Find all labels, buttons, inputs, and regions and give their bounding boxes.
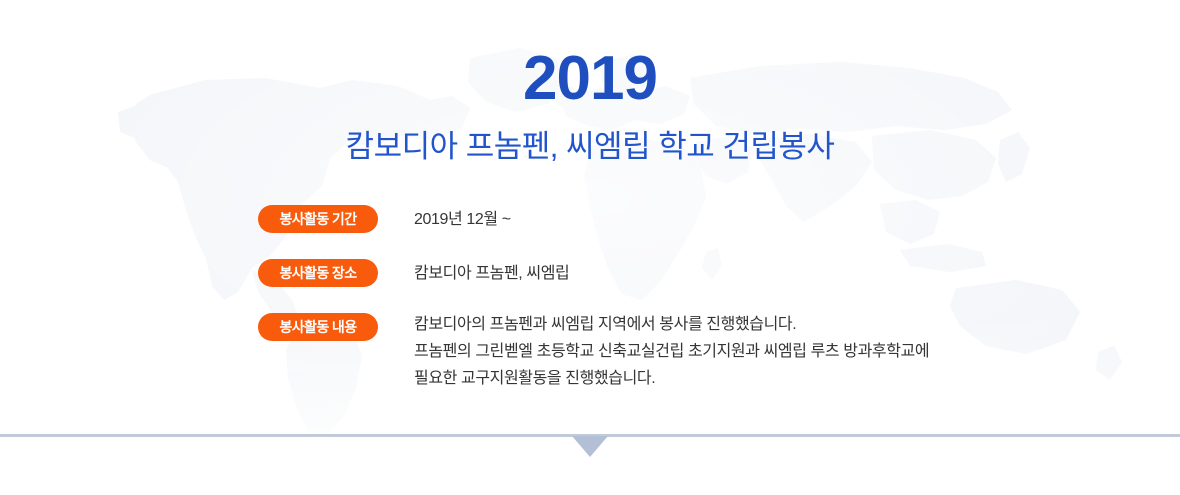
badge-activity: 봉사활동 내용 bbox=[258, 313, 378, 341]
info-row-activity: 봉사활동 내용 캄보디아의 프놈펜과 씨엠립 지역에서 봉사를 진행했습니다. … bbox=[258, 313, 1180, 392]
info-row-place: 봉사활동 장소 캄보디아 프놈펜, 씨엠립 bbox=[258, 259, 1180, 287]
badge-place: 봉사활동 장소 bbox=[258, 259, 378, 287]
chevron-down-icon bbox=[572, 436, 608, 457]
activity-line-2: 프놈펜의 그린벧엘 초등학교 신축교실건립 초기지원과 씨엠립 루츠 방과후학교… bbox=[414, 338, 1180, 365]
activity-line-3: 필요한 교구지원활동을 진행했습니다. bbox=[414, 365, 1180, 392]
activity-line-1: 캄보디아의 프놈펜과 씨엠립 지역에서 봉사를 진행했습니다. bbox=[414, 311, 1180, 338]
value-activity: 캄보디아의 프놈펜과 씨엠립 지역에서 봉사를 진행했습니다. 프놈펜의 그린벧… bbox=[414, 310, 1180, 392]
year-heading: 2019 bbox=[0, 0, 1180, 110]
info-row-period: 봉사활동 기간 2019년 12월 ~ bbox=[258, 205, 1180, 233]
value-place: 캄보디아 프놈펜, 씨엠립 bbox=[414, 259, 1180, 287]
value-period: 2019년 12월 ~ bbox=[414, 205, 1180, 233]
activity-info-list: 봉사활동 기간 2019년 12월 ~ 봉사활동 장소 캄보디아 프놈펜, 씨엠… bbox=[0, 205, 1180, 392]
banner-content: 2019 캄보디아 프놈펜, 씨엠립 학교 건립봉사 봉사활동 기간 2019년… bbox=[0, 0, 1180, 392]
badge-period: 봉사활동 기간 bbox=[258, 205, 378, 233]
volunteer-activity-banner: 2019 캄보디아 프놈펜, 씨엠립 학교 건립봉사 봉사활동 기간 2019년… bbox=[0, 0, 1180, 495]
page-title: 캄보디아 프놈펜, 씨엠립 학교 건립봉사 bbox=[0, 128, 1180, 165]
